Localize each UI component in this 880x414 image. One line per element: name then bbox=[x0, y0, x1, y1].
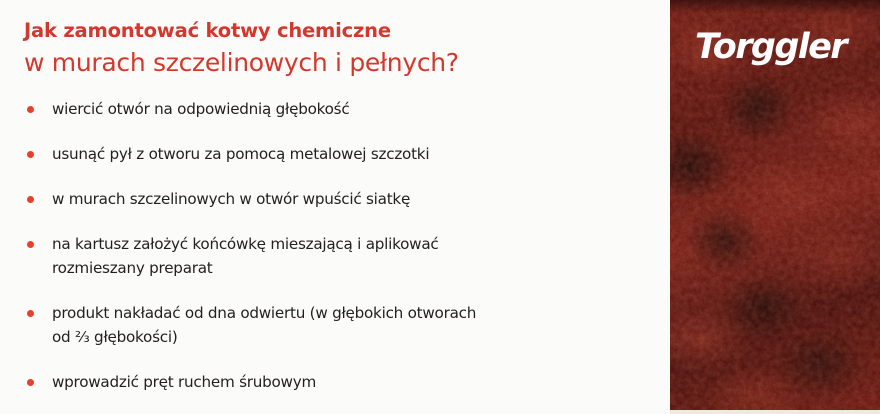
list-item: wiercić otwór na odpowiednią głębokość bbox=[24, 97, 652, 121]
list-item-line-1: wprowadzić pręt ruchem śrubowym bbox=[52, 373, 316, 391]
list-item-line-1: produkt nakładać od dna odwiertu (w głęb… bbox=[52, 304, 476, 322]
torggler-logo: Torggler bbox=[695, 26, 875, 68]
list-item-line-1: wiercić otwór na odpowiednią głębokość bbox=[52, 100, 349, 118]
title-line-secondary: w murach szczelinowych i pełnych? bbox=[24, 46, 654, 80]
title-line-primary: Jak zamontować kotwy chemiczne bbox=[24, 18, 654, 44]
list-item: w murach szczelinowych w otwór wpuścić s… bbox=[24, 187, 652, 211]
bullet-dot-icon bbox=[27, 379, 34, 386]
list-item: wprowadzić pręt ruchem śrubowym bbox=[24, 370, 652, 394]
logo-wordmark: Torggler bbox=[695, 27, 850, 67]
list-item-line-1: w murach szczelinowych w otwór wpuścić s… bbox=[52, 190, 410, 208]
list-item-label: wprowadzić pręt ruchem śrubowym bbox=[52, 370, 652, 394]
bullet-dot-icon bbox=[27, 151, 34, 158]
bullet-dot-icon bbox=[27, 310, 34, 317]
list-item-label: produkt nakładać od dna odwiertu (w głęb… bbox=[52, 301, 652, 349]
texture-top-shadow bbox=[670, 0, 880, 14]
list-item-label: na kartusz założyć końcówkę mieszającą i… bbox=[52, 232, 652, 280]
bullet-dot-icon bbox=[27, 196, 34, 203]
list-item: usunąć pył z otworu za pomocą metalowej … bbox=[24, 142, 652, 166]
bullet-dot-icon bbox=[27, 106, 34, 113]
list-item-label: wiercić otwór na odpowiednią głębokość bbox=[52, 97, 652, 121]
list-item: na kartusz założyć końcówkę mieszającą i… bbox=[24, 232, 652, 280]
list-item-line-2: rozmieszany preparat bbox=[52, 256, 652, 280]
texture-bottom-strip bbox=[670, 410, 880, 414]
list-item: produkt nakładać od dna odwiertu (w głęb… bbox=[24, 301, 652, 349]
list-item-line-1: na kartusz założyć końcówkę mieszającą i… bbox=[52, 235, 438, 253]
list-item-line-2: od ⅔ głębokości) bbox=[52, 325, 652, 349]
list-item-label: usunąć pył z otworu za pomocą metalowej … bbox=[52, 142, 652, 166]
list-item-label: w murach szczelinowych w otwór wpuścić s… bbox=[52, 187, 652, 211]
list-item-line-1: usunąć pył z otworu za pomocą metalowej … bbox=[52, 145, 429, 163]
slide-canvas: Jak zamontować kotwy chemiczne w murach … bbox=[0, 0, 880, 414]
page-title: Jak zamontować kotwy chemiczne w murach … bbox=[24, 18, 654, 80]
instruction-list: wiercić otwór na odpowiednią głębokość u… bbox=[24, 97, 652, 394]
bullet-dot-icon bbox=[27, 241, 34, 248]
content-panel: Jak zamontować kotwy chemiczne w murach … bbox=[0, 0, 670, 414]
